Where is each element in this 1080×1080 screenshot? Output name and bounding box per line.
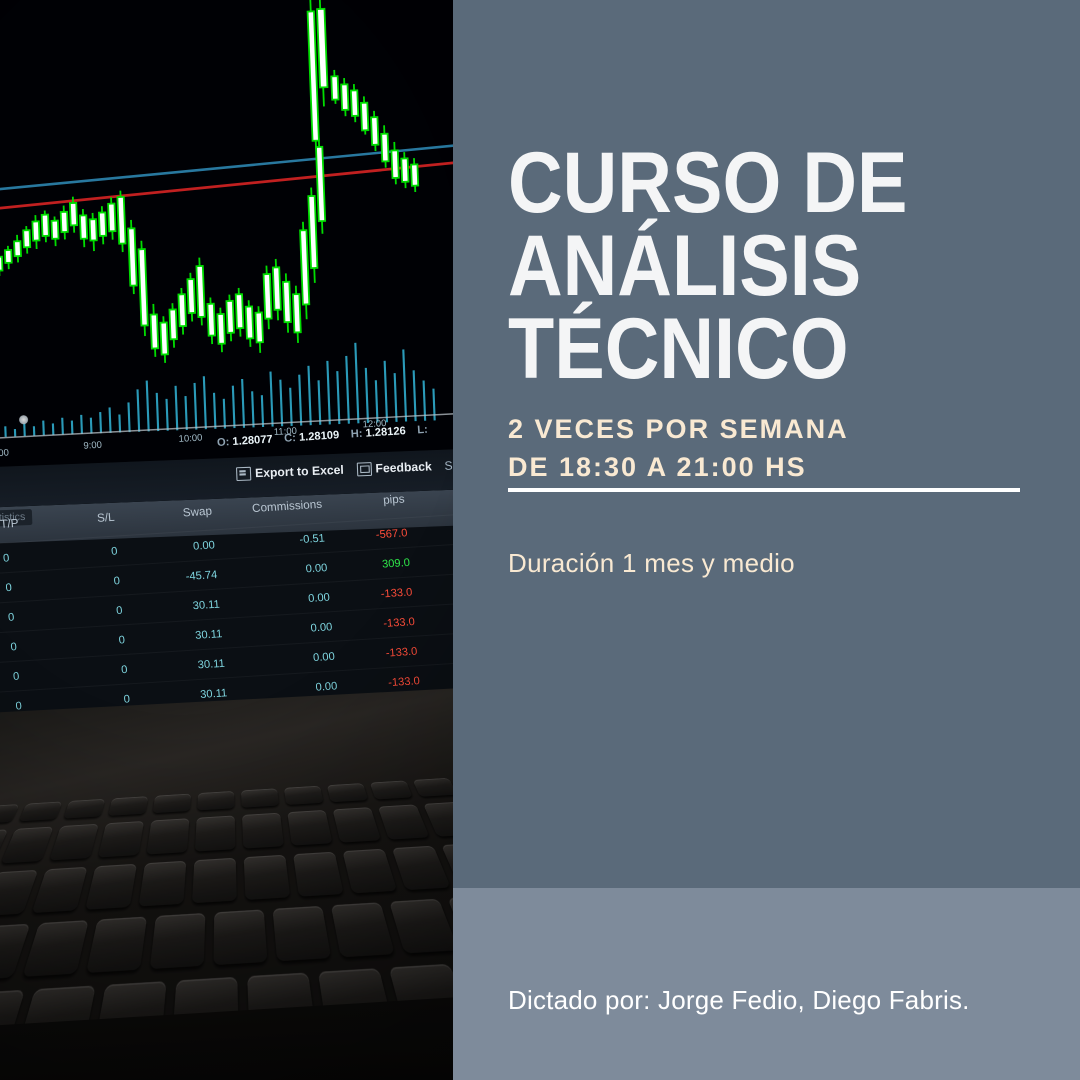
panel-light <box>453 888 1080 1080</box>
keyboard-key <box>273 906 332 961</box>
cell-sl: 0 <box>61 633 136 650</box>
keyboard-key <box>0 804 19 824</box>
cell-tp: 0 <box>0 667 64 684</box>
cell-swap: 0.00 <box>127 538 225 557</box>
search-field[interactable]: Search <box>444 458 453 472</box>
laptop-photo: 8:00 9:00 10:00 11:00 12:00 O: 1.28077 C… <box>0 0 453 1080</box>
keyboard-key <box>19 801 63 821</box>
cell-profit: 274.06 <box>420 549 453 568</box>
cell-pips: -133.0 <box>345 644 429 662</box>
page-title: CURSO DE ANÁLISIS TÉCNICO <box>508 142 983 392</box>
keyboard-key <box>49 824 99 861</box>
ohlc-close-value: 1.28109 <box>299 429 340 444</box>
ohlc-low-label: L: <box>417 423 428 436</box>
cell-tp: 0 <box>0 578 57 595</box>
table-grid: T/P S/L Swap Commissions pips Profit N 0… <box>0 488 453 722</box>
title-line-3: TÉCNICO <box>508 308 983 391</box>
title-line-1: CURSO DE <box>508 142 983 225</box>
export-to-excel-button[interactable]: Export to Excel <box>236 463 344 481</box>
feedback-label: Feedback <box>375 460 432 475</box>
cell-profit: -118.33 <box>425 608 453 627</box>
keyboard-key <box>244 855 291 900</box>
search-label: Search <box>444 458 453 472</box>
keyboard-key <box>139 861 187 907</box>
keyboard-key <box>378 804 430 839</box>
col-profit: Profit <box>415 488 453 505</box>
candlestick-chart-svg: 8:00 9:00 10:00 11:00 12:00 <box>0 0 453 467</box>
cell-swap: -45.74 <box>130 567 228 586</box>
duration-text: Duración 1 mes y medio <box>508 548 1048 579</box>
keyboard-key <box>293 852 344 897</box>
keyboard-key <box>423 802 453 837</box>
cell-sl: 0 <box>56 573 131 590</box>
col-tp: T/P <box>0 515 52 532</box>
feedback-button[interactable]: Feedback <box>356 460 432 477</box>
keyboard-key <box>63 799 105 819</box>
cell-pips: 309.0 <box>337 555 421 573</box>
cell-tp: 0 <box>0 548 54 565</box>
keyboard-key <box>342 849 397 894</box>
cell-swap: 30.11 <box>132 597 230 616</box>
cell-profit: -118.33 <box>430 667 453 686</box>
keyboard-key <box>213 909 267 965</box>
cell-commissions: -0.51 <box>225 531 336 551</box>
keyboard-key <box>327 783 368 802</box>
col-sl: S/L <box>51 511 126 528</box>
keyboard-key <box>242 813 284 849</box>
col-commissions: Commissions <box>222 498 333 518</box>
feedback-icon <box>356 462 371 476</box>
ohlc-open-value: 1.28077 <box>232 433 273 448</box>
keyboard-key <box>333 807 381 843</box>
cell-swap: 30.11 <box>137 656 235 675</box>
export-to-excel-label: Export to Excel <box>255 464 344 480</box>
cell-profit: -118.33 <box>427 638 453 657</box>
ohlc-open-label: O: <box>217 436 230 449</box>
keyboard-key <box>370 780 413 799</box>
presenter-text: Dictado por: Jorge Fedio, Diego Fabris. <box>508 985 1068 1016</box>
cell-sl: 0 <box>63 662 138 679</box>
cell-commissions: 0.00 <box>232 620 343 640</box>
keyboard-key <box>146 818 189 854</box>
cell-commissions: 0.00 <box>235 649 346 669</box>
cell-profit: -118.33 <box>422 579 453 598</box>
table-body: 000.00-0.51-567.0-56.7000-45.740.00309.0… <box>0 513 453 722</box>
keyboard-key <box>22 920 89 977</box>
schedule-line-2: DE 18:30 A 21:00 HS <box>508 448 1048 486</box>
laptop-screen: 8:00 9:00 10:00 11:00 12:00 O: 1.28077 C… <box>0 0 453 722</box>
keyboard-key <box>108 796 148 816</box>
schedule-line-1: 2 VECES POR SEMANA <box>508 410 1048 448</box>
trades-table: atistics T/P S/L Swap Commissions pips P… <box>0 488 453 722</box>
keyboard-key <box>197 791 234 811</box>
keyboard-key <box>392 846 451 891</box>
col-pips: pips <box>332 492 416 510</box>
cell-tp: 0 <box>0 637 62 654</box>
ohlc-high-label: H: <box>350 427 363 440</box>
cell-pips: -567.0 <box>335 526 419 544</box>
keyboard-key <box>413 778 453 797</box>
cell-sl: 0 <box>58 603 133 620</box>
cell-pips: -133.0 <box>340 585 424 603</box>
svg-text:9:00: 9:00 <box>83 440 102 452</box>
keyboard-key <box>32 867 88 913</box>
keyboard-key <box>389 899 453 954</box>
cell-swap: 30.11 <box>135 626 233 645</box>
cell-tp: 0 <box>0 608 59 625</box>
cell-commissions: 0.00 <box>230 590 341 610</box>
keyboard-key <box>86 917 147 973</box>
col-swap: Swap <box>125 504 223 523</box>
trading-chart: 8:00 9:00 10:00 11:00 12:00 O: 1.28077 C… <box>0 0 453 467</box>
keyboard-key <box>153 794 192 814</box>
excel-icon <box>236 467 251 481</box>
schedule-text: 2 VECES POR SEMANA DE 18:30 A 21:00 HS <box>508 410 1048 487</box>
svg-text:8:00: 8:00 <box>0 447 9 459</box>
cell-sl: 0 <box>53 544 128 561</box>
title-line-2: ANÁLISIS <box>508 225 983 308</box>
divider-rule <box>508 488 1020 492</box>
keyboard-key <box>1 827 54 864</box>
keyboard-key <box>192 858 237 904</box>
keyboard-key <box>85 864 137 910</box>
ohlc-high-value: 1.28126 <box>365 425 406 440</box>
ohlc-close-label: C: <box>284 431 297 444</box>
keyboard-key <box>287 810 332 846</box>
keyboard-key <box>284 786 324 805</box>
keyboard-key <box>98 821 144 858</box>
keyboard-key <box>195 815 236 851</box>
keyboard-key <box>241 788 279 807</box>
keyboard-key <box>150 913 206 969</box>
cell-pips: -133.0 <box>342 614 426 632</box>
cell-pips: -133.0 <box>347 673 431 691</box>
keyboard-key <box>331 902 395 957</box>
poster-canvas: 8:00 9:00 10:00 11:00 12:00 O: 1.28077 C… <box>0 0 1080 1080</box>
cell-profit: -56.70 <box>417 520 453 539</box>
cell-commissions: 0.00 <box>227 560 338 580</box>
svg-text:10:00: 10:00 <box>178 433 202 445</box>
